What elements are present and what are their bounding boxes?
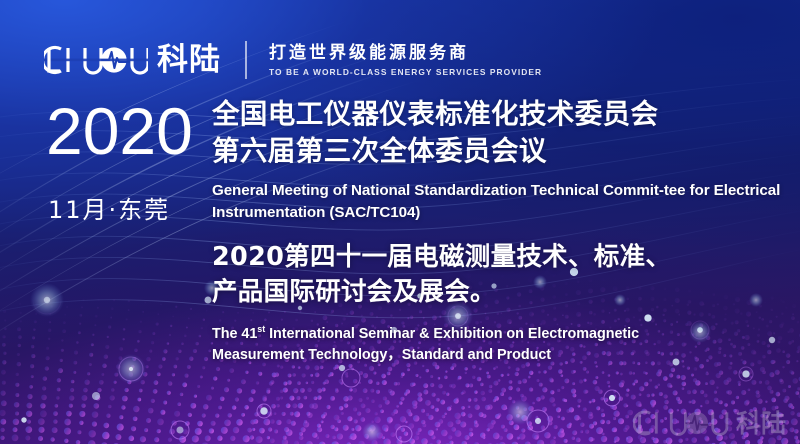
event-text-column: 全国电工仪器仪表标准化技术委员会 第六届第三次全体委员会议 General Me… — [212, 96, 792, 365]
logo-chinese-name: 科陆 — [157, 45, 221, 76]
subtitle-english-prefix: The 41 — [212, 326, 257, 342]
slogan-english: TO BE A WORLD-CLASS ENERGY SERVICES PROV… — [269, 67, 542, 77]
subtitle-english-rest: International Seminar & Exhibition on El… — [265, 326, 639, 342]
event-poster: 科陆 打造世界级能源服务商 TO BE A WORLD-CLASS ENERGY… — [0, 0, 800, 444]
clou-logo: 科陆 — [44, 43, 221, 77]
event-year: 2020 — [46, 98, 193, 164]
corner-watermark-logo: 科陆 — [633, 408, 786, 438]
event-subtitle-english: The 41st International Seminar & Exhibit… — [212, 324, 792, 366]
event-title-chinese-line2: 第六届第三次全体委员会议 — [212, 133, 792, 170]
watermark-clou-icon — [633, 408, 729, 438]
clou-waveform-circle-icon — [44, 43, 148, 77]
event-subtitle-english-line1: The 41st International Seminar & Exhibit… — [212, 324, 792, 345]
slogan-chinese: 打造世界级能源服务商 — [269, 43, 542, 64]
watermark-chinese-name: 科陆 — [736, 411, 786, 436]
event-subtitle-chinese-line2: 产品国际研讨会及展会。 — [212, 275, 792, 310]
logo-divider — [245, 41, 247, 79]
brand-logo-bar: 科陆 打造世界级能源服务商 TO BE A WORLD-CLASS ENERGY… — [44, 38, 542, 82]
event-subtitle-english-line2: Measurement Technology，Standard and Prod… — [212, 345, 792, 366]
brand-slogan: 打造世界级能源服务商 TO BE A WORLD-CLASS ENERGY SE… — [269, 43, 542, 77]
event-title-chinese-line1: 全国电工仪器仪表标准化技术委员会 — [212, 96, 792, 133]
event-subtitle-chinese-line1: 2020第四十一届电磁测量技术、标准、 — [212, 240, 792, 275]
event-subtitle-chinese: 2020第四十一届电磁测量技术、标准、 产品国际研讨会及展会。 — [212, 240, 792, 310]
subtitle-english-ordinal-suffix: st — [257, 324, 265, 334]
event-title-chinese: 全国电工仪器仪表标准化技术委员会 第六届第三次全体委员会议 — [212, 96, 792, 169]
event-title-english: General Meeting of National Standardizat… — [212, 180, 792, 223]
event-date-place: 11月·东莞 — [48, 198, 170, 222]
